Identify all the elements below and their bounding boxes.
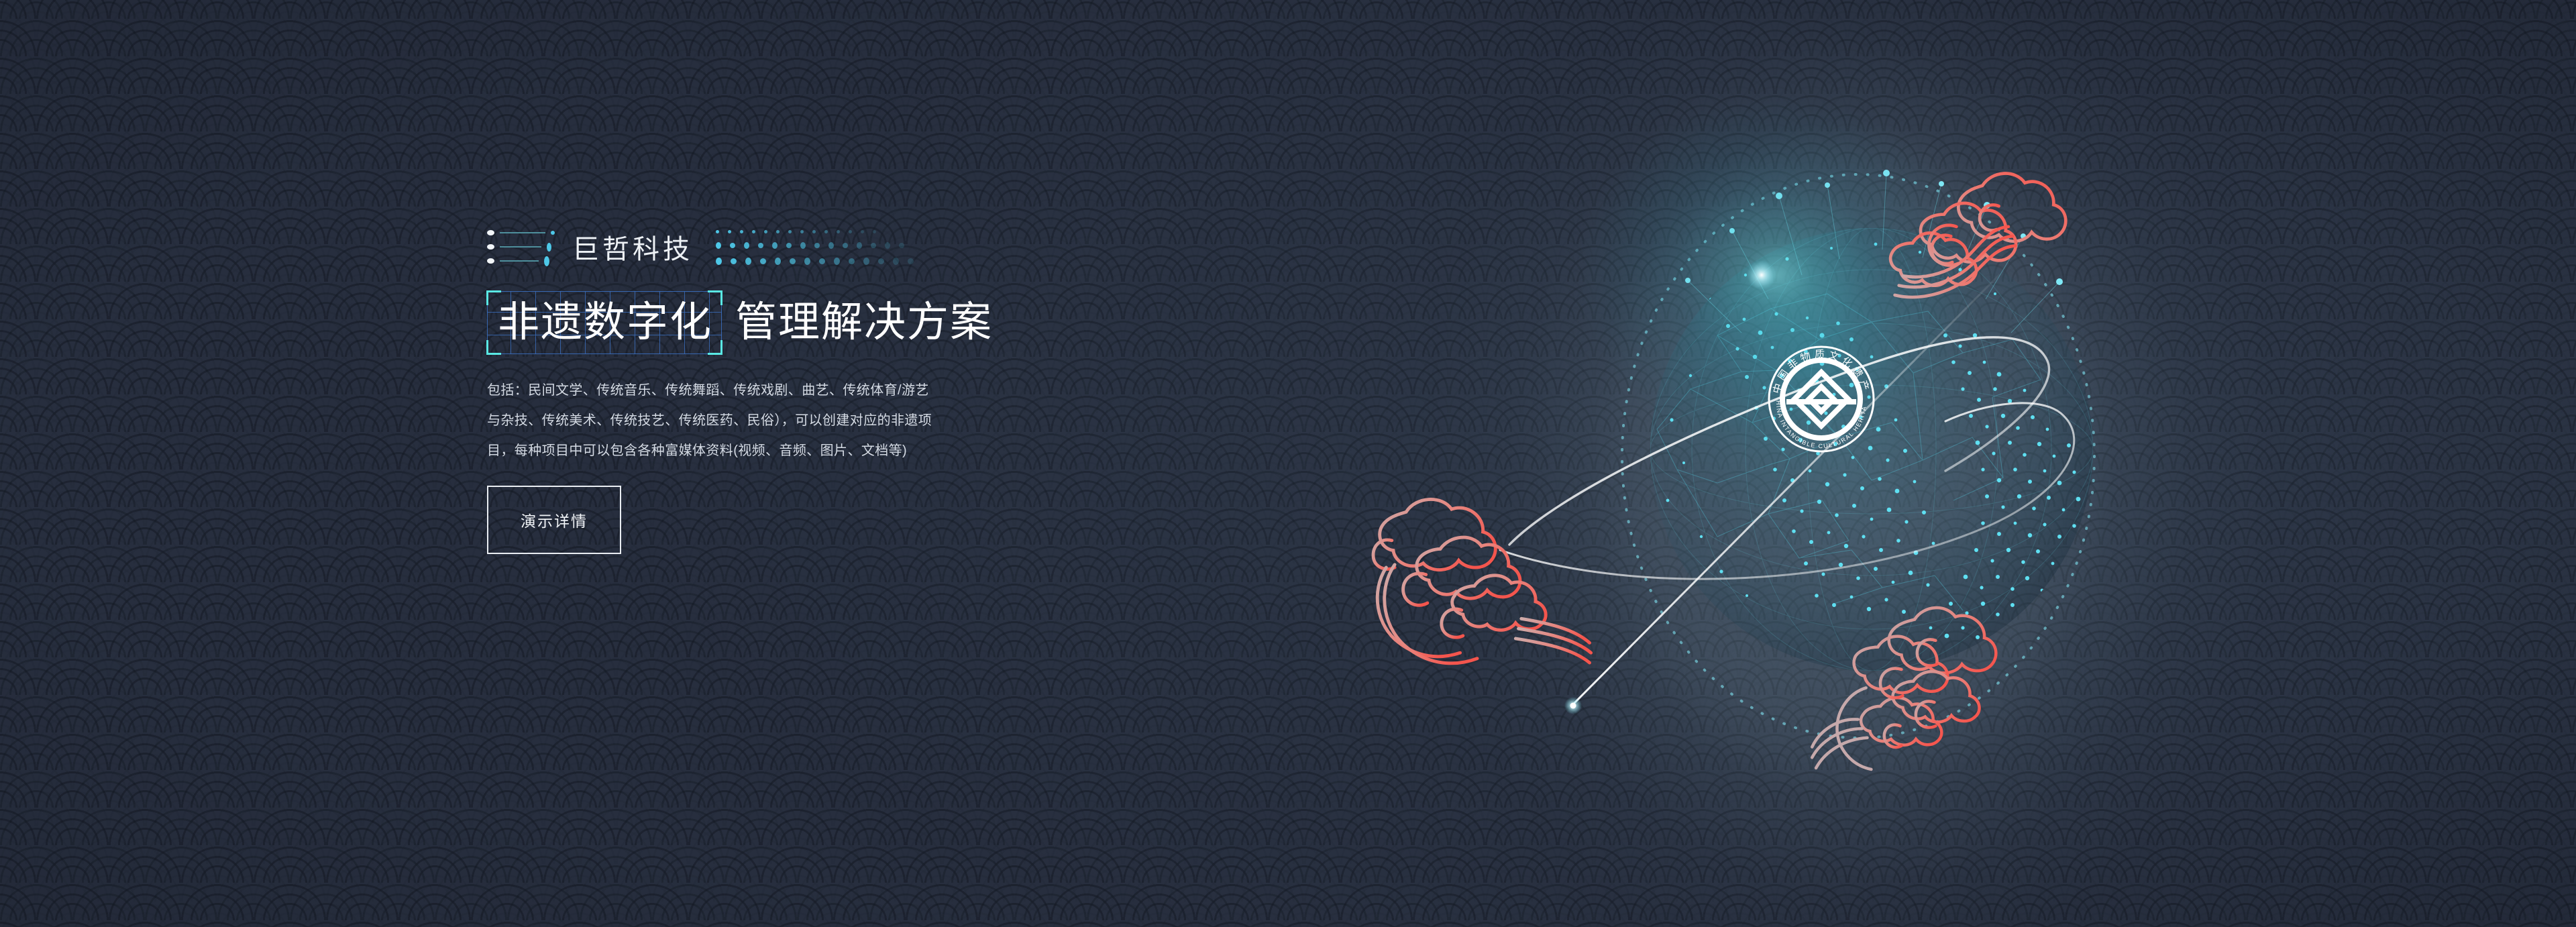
eyebrow-mark-row	[487, 258, 555, 264]
mark-dot-white-icon	[487, 230, 494, 235]
mark-line-icon	[500, 232, 545, 233]
eyebrow-dot-icon	[744, 242, 749, 249]
description-line: 包括：民间文学、传统音乐、传统舞蹈、传统戏剧、曲艺、传统体育/游艺	[487, 384, 1181, 397]
eyebrow-dot-icon	[775, 258, 781, 265]
eyebrow-dot-grid-row	[716, 258, 922, 265]
mark-dot-cyan-icon	[544, 256, 549, 266]
eyebrow-dot-icon	[824, 230, 828, 233]
eyebrow-dot-icon	[800, 242, 806, 249]
eyebrow-dot-icon	[871, 243, 876, 248]
description-paragraph: 包括：民间文学、传统音乐、传统舞蹈、传统戏剧、曲艺、传统体育/游艺与杂技、传统美…	[487, 384, 1181, 457]
eyebrow-dot-icon	[819, 258, 825, 264]
eyebrow-row: 巨哲科技	[487, 221, 1225, 272]
eyebrow-dot-icon	[758, 243, 763, 248]
eyebrow-dot-icon	[908, 258, 914, 264]
mark-dot-white-icon	[487, 244, 494, 250]
eyebrow-dot-icon	[804, 258, 810, 265]
eyebrow-dot-icon	[849, 230, 852, 233]
eyebrow-dot-icon	[849, 258, 855, 264]
eyebrow-dot-icon	[873, 230, 876, 233]
eyebrow-dot-icon	[728, 230, 731, 233]
eyebrow-dot-grid-row	[716, 230, 922, 233]
headline-rest-text: 管理解决方案	[735, 302, 993, 343]
eyebrow-dot-icon	[899, 243, 904, 248]
page-title: 非遗数字化 管理解决方案	[487, 291, 1225, 354]
eyebrow-dot-icon	[730, 243, 735, 248]
eyebrow-dot-icon	[861, 230, 864, 233]
eyebrow-dot-icon	[878, 258, 884, 264]
mark-line-icon	[500, 246, 541, 248]
eyebrow-dot-icon	[893, 258, 899, 265]
eyebrow-dot-icon	[837, 230, 840, 233]
eyebrow-dot-icon	[740, 230, 743, 233]
eyebrow-dot-icon	[760, 258, 766, 264]
mark-dot-white-icon	[487, 258, 494, 264]
mark-line-icon	[500, 260, 539, 262]
headline-highlight-box: 非遗数字化	[487, 291, 722, 354]
eyebrow-dot-icon	[814, 243, 820, 248]
eyebrow-dot-icon	[885, 242, 890, 249]
eyebrow-dot-grid	[716, 229, 922, 265]
eyebrow-dot-icon	[828, 242, 834, 249]
description-line: 目，每种项目中可以包含各种富媒体资料(视频、音频、图片、文档等)	[487, 444, 1181, 457]
eyebrow-dot-icon	[790, 258, 796, 264]
mark-dot-cyan-icon	[547, 243, 551, 252]
eyebrow-dot-icon	[834, 258, 840, 265]
eyebrow-dot-icon	[752, 230, 755, 233]
eyebrow-mark-row	[487, 244, 555, 250]
eyebrow-dot-icon	[776, 230, 780, 233]
hero-banner: 中国非物质文化遗产 CHINA INTANGIBLE CULTURAL HERI…	[0, 0, 2576, 927]
eyebrow-mark-row	[487, 230, 555, 235]
hero-copy-block: 巨哲科技 非遗数字化 管理解决方案 包括：民间文学、传统音乐、传统舞蹈、传统戏剧…	[487, 221, 1225, 554]
eyebrow-dot-icon	[788, 230, 792, 233]
eyebrow-dot-icon	[863, 258, 869, 265]
eyebrow-dot-icon	[731, 258, 737, 264]
demo-details-button[interactable]: 演示详情	[487, 486, 621, 554]
eyebrow-dot-icon	[716, 230, 719, 233]
description-line: 与杂技、传统美术、传统技艺、传统医药、民俗），可以创建对应的非遗项	[487, 414, 1181, 427]
mark-dot-cyan-icon	[551, 231, 555, 235]
eyebrow-dot-icon	[745, 258, 751, 265]
heritage-emblem: 中国非物质文化遗产 CHINA INTANGIBLE CULTURAL HERI…	[1769, 347, 1874, 451]
eyebrow-dot-icon	[786, 243, 792, 248]
eyebrow-dot-icon	[812, 230, 816, 233]
eyebrow-dot-icon	[716, 242, 721, 249]
eyebrow-dot-icon	[772, 242, 777, 249]
eyebrow-dot-icon	[716, 258, 722, 265]
globe-glow-core	[1747, 260, 1776, 290]
headline-highlight-text: 非遗数字化	[498, 299, 712, 345]
eyebrow-dot-icon	[764, 230, 767, 233]
eyebrow-dot-icon	[800, 230, 804, 233]
brand-name: 巨哲科技	[572, 227, 693, 266]
eyebrow-line-marks	[487, 230, 555, 264]
eyebrow-dot-icon	[857, 242, 862, 249]
eyebrow-dot-icon	[843, 243, 848, 248]
globe-scene: 中国非物质文化遗产 CHINA INTANGIBLE CULTURAL HERI…	[1342, 0, 2576, 927]
eyebrow-dot-grid-row	[716, 242, 922, 249]
